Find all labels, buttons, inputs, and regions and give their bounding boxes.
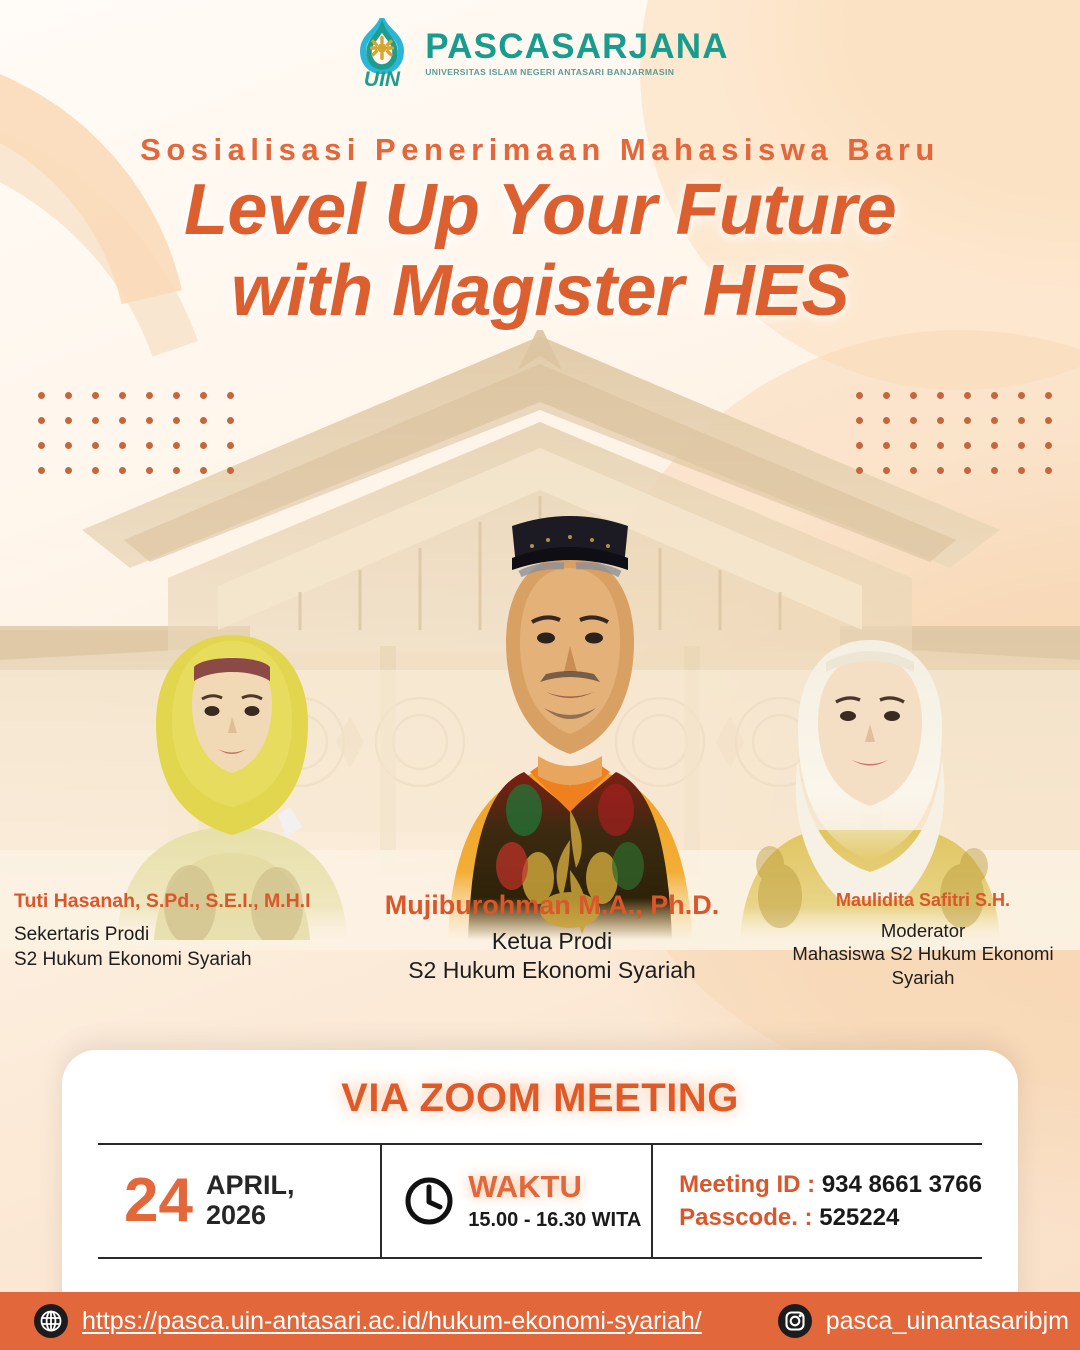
poster-kicker: Sosialisasi Penerimaan Mahasiswa Baru — [0, 132, 1080, 168]
speaker-name-3: Maulidita Safitri S.H. — [778, 890, 1068, 911]
event-date-cell: 24 APRIL, 2026 — [98, 1145, 380, 1257]
event-time-cell: WAKTU 15.00 - 16.30 WITA — [380, 1145, 653, 1257]
speaker-role-1-line2: S2 Hukum Ekonomi Syariah — [14, 948, 384, 972]
speaker-info-3: Maulidita Safitri S.H. Moderator Mahasis… — [778, 890, 1068, 990]
globe-icon — [34, 1304, 68, 1338]
speaker-info-2: Mujiburohman M.A., Ph.D. Ketua Prodi S2 … — [382, 890, 722, 986]
speaker-names: Tuti Hasanah, S.Pd., S.E.I., M.H.I Seker… — [0, 890, 1080, 1035]
card-divider-bottom — [98, 1257, 982, 1259]
event-time-value: 15.00 - 16.30 WITA — [468, 1209, 641, 1232]
footer-website-url[interactable]: https://pasca.uin-antasari.ac.id/hukum-e… — [82, 1307, 702, 1336]
passcode-value: 525224 — [819, 1204, 899, 1231]
speaker-name-2: Mujiburohman M.A., Ph.D. — [382, 890, 722, 921]
speaker-role-2-line1: Ketua Prodi — [382, 927, 722, 956]
headline-line-2: with Magister HES — [0, 251, 1080, 332]
event-card-title: VIA ZOOM MEETING — [62, 1076, 1018, 1121]
brand-subtitle: UNIVERSITAS ISLAM NEGERI ANTASARI BANJAR… — [425, 68, 729, 77]
speaker-photo-tuti-hasanah — [72, 595, 392, 940]
speaker-name-1: Tuti Hasanah, S.Pd., S.E.I., M.H.I — [14, 890, 384, 912]
event-info-row: 24 APRIL, 2026 WAKTU 15.00 - 16.30 WITA — [98, 1145, 982, 1257]
passcode-label: Passcode. : — [679, 1204, 812, 1231]
speaker-role-2-line2: S2 Hukum Ekonomi Syariah — [382, 956, 722, 985]
event-meeting-cell: Meeting ID : 934 8661 3766 Passcode. : 5… — [653, 1145, 982, 1257]
event-month: APRIL, — [206, 1171, 295, 1201]
event-day: 24 — [124, 1173, 193, 1229]
meeting-id-value: 934 8661 3766 — [822, 1171, 982, 1198]
clock-icon — [404, 1176, 454, 1226]
svg-text:UIN: UIN — [364, 68, 401, 88]
footer-instagram-handle[interactable]: pasca_uinantasaribjm — [826, 1307, 1069, 1336]
meeting-id-label: Meeting ID : — [679, 1171, 815, 1198]
event-time-label: WAKTU — [468, 1170, 641, 1204]
speaker-photo-mujiburohman — [420, 510, 720, 940]
instagram-icon — [778, 1304, 812, 1338]
brand-logo-bar: UIN PASCASARJANA UNIVERSITAS ISLAM NEGER… — [0, 18, 1080, 88]
poster-canvas: UIN PASCASARJANA UNIVERSITAS ISLAM NEGER… — [0, 0, 1080, 1350]
speaker-role-3-line2: Mahasiswa S2 Hukum Ekonomi Syariah — [778, 942, 1068, 989]
poster-headline: Level Up Your Future with Magister HES — [0, 170, 1080, 333]
brand-title: PASCASARJANA — [425, 29, 729, 64]
footer-bar: https://pasca.uin-antasari.ac.id/hukum-e… — [0, 1292, 1080, 1350]
footer-website[interactable]: https://pasca.uin-antasari.ac.id/hukum-e… — [34, 1304, 702, 1338]
speaker-role-1-line1: Sekertaris Prodi — [14, 923, 384, 947]
uin-flame-logo-icon: UIN — [351, 18, 413, 88]
footer-instagram[interactable]: pasca_uinantasaribjm — [778, 1304, 1069, 1338]
speaker-role-3-line1: Moderator — [778, 919, 1068, 943]
speaker-info-1: Tuti Hasanah, S.Pd., S.E.I., M.H.I Seker… — [14, 890, 384, 972]
speaker-photo-group — [0, 430, 1080, 940]
event-year: 2026 — [206, 1201, 295, 1231]
headline-line-1: Level Up Your Future — [0, 170, 1080, 251]
